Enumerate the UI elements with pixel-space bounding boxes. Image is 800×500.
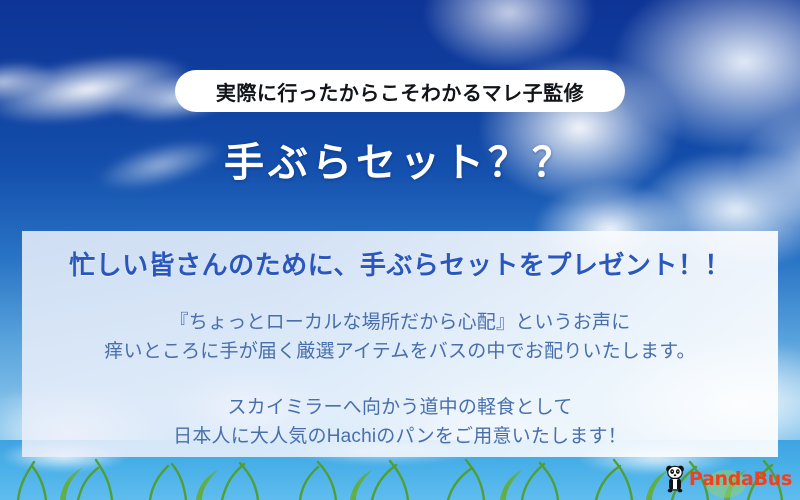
paragraph-one: 『ちょっとローカルな場所だから心配』というお声に 痒いところに手が届く厳選アイテ… [42, 308, 758, 367]
badge-label: 実際に行ったからこそわかるマレ子監修 [216, 77, 584, 106]
paragraph-line: 痒いところに手が届く厳選アイテムをバスの中でお配りいたします。 [42, 337, 758, 366]
panel-heading: 忙しい皆さんのために、手ぶらセットをプレゼント！！ [42, 245, 758, 282]
content-panel: 忙しい皆さんのために、手ぶらセットをプレゼント！！ 『ちょっとローカルな場所だか… [22, 231, 778, 457]
watermark-logo: PandaBus [664, 464, 792, 494]
paragraph-line: 日本人に大人気のHachiのパンをご用意いたします！ [42, 422, 758, 451]
promo-banner: 実際に行ったからこそわかるマレ子監修 手ぶらセット？？ 忙しい皆さんのために、手… [0, 0, 800, 500]
page-title: 手ぶらセット？？ [0, 130, 800, 188]
panda-icon [664, 464, 686, 494]
paragraph-line: スカイミラーへ向かう道中の軽食として [42, 393, 758, 422]
badge-pill: 実際に行ったからこそわかるマレ子監修 [175, 70, 625, 112]
brand-name: PandaBus [689, 468, 792, 490]
paragraph-two: スカイミラーへ向かう道中の軽食として 日本人に大人気のHachiのパンをご用意い… [42, 393, 758, 452]
paragraph-line: 『ちょっとローカルな場所だから心配』というお声に [42, 308, 758, 337]
